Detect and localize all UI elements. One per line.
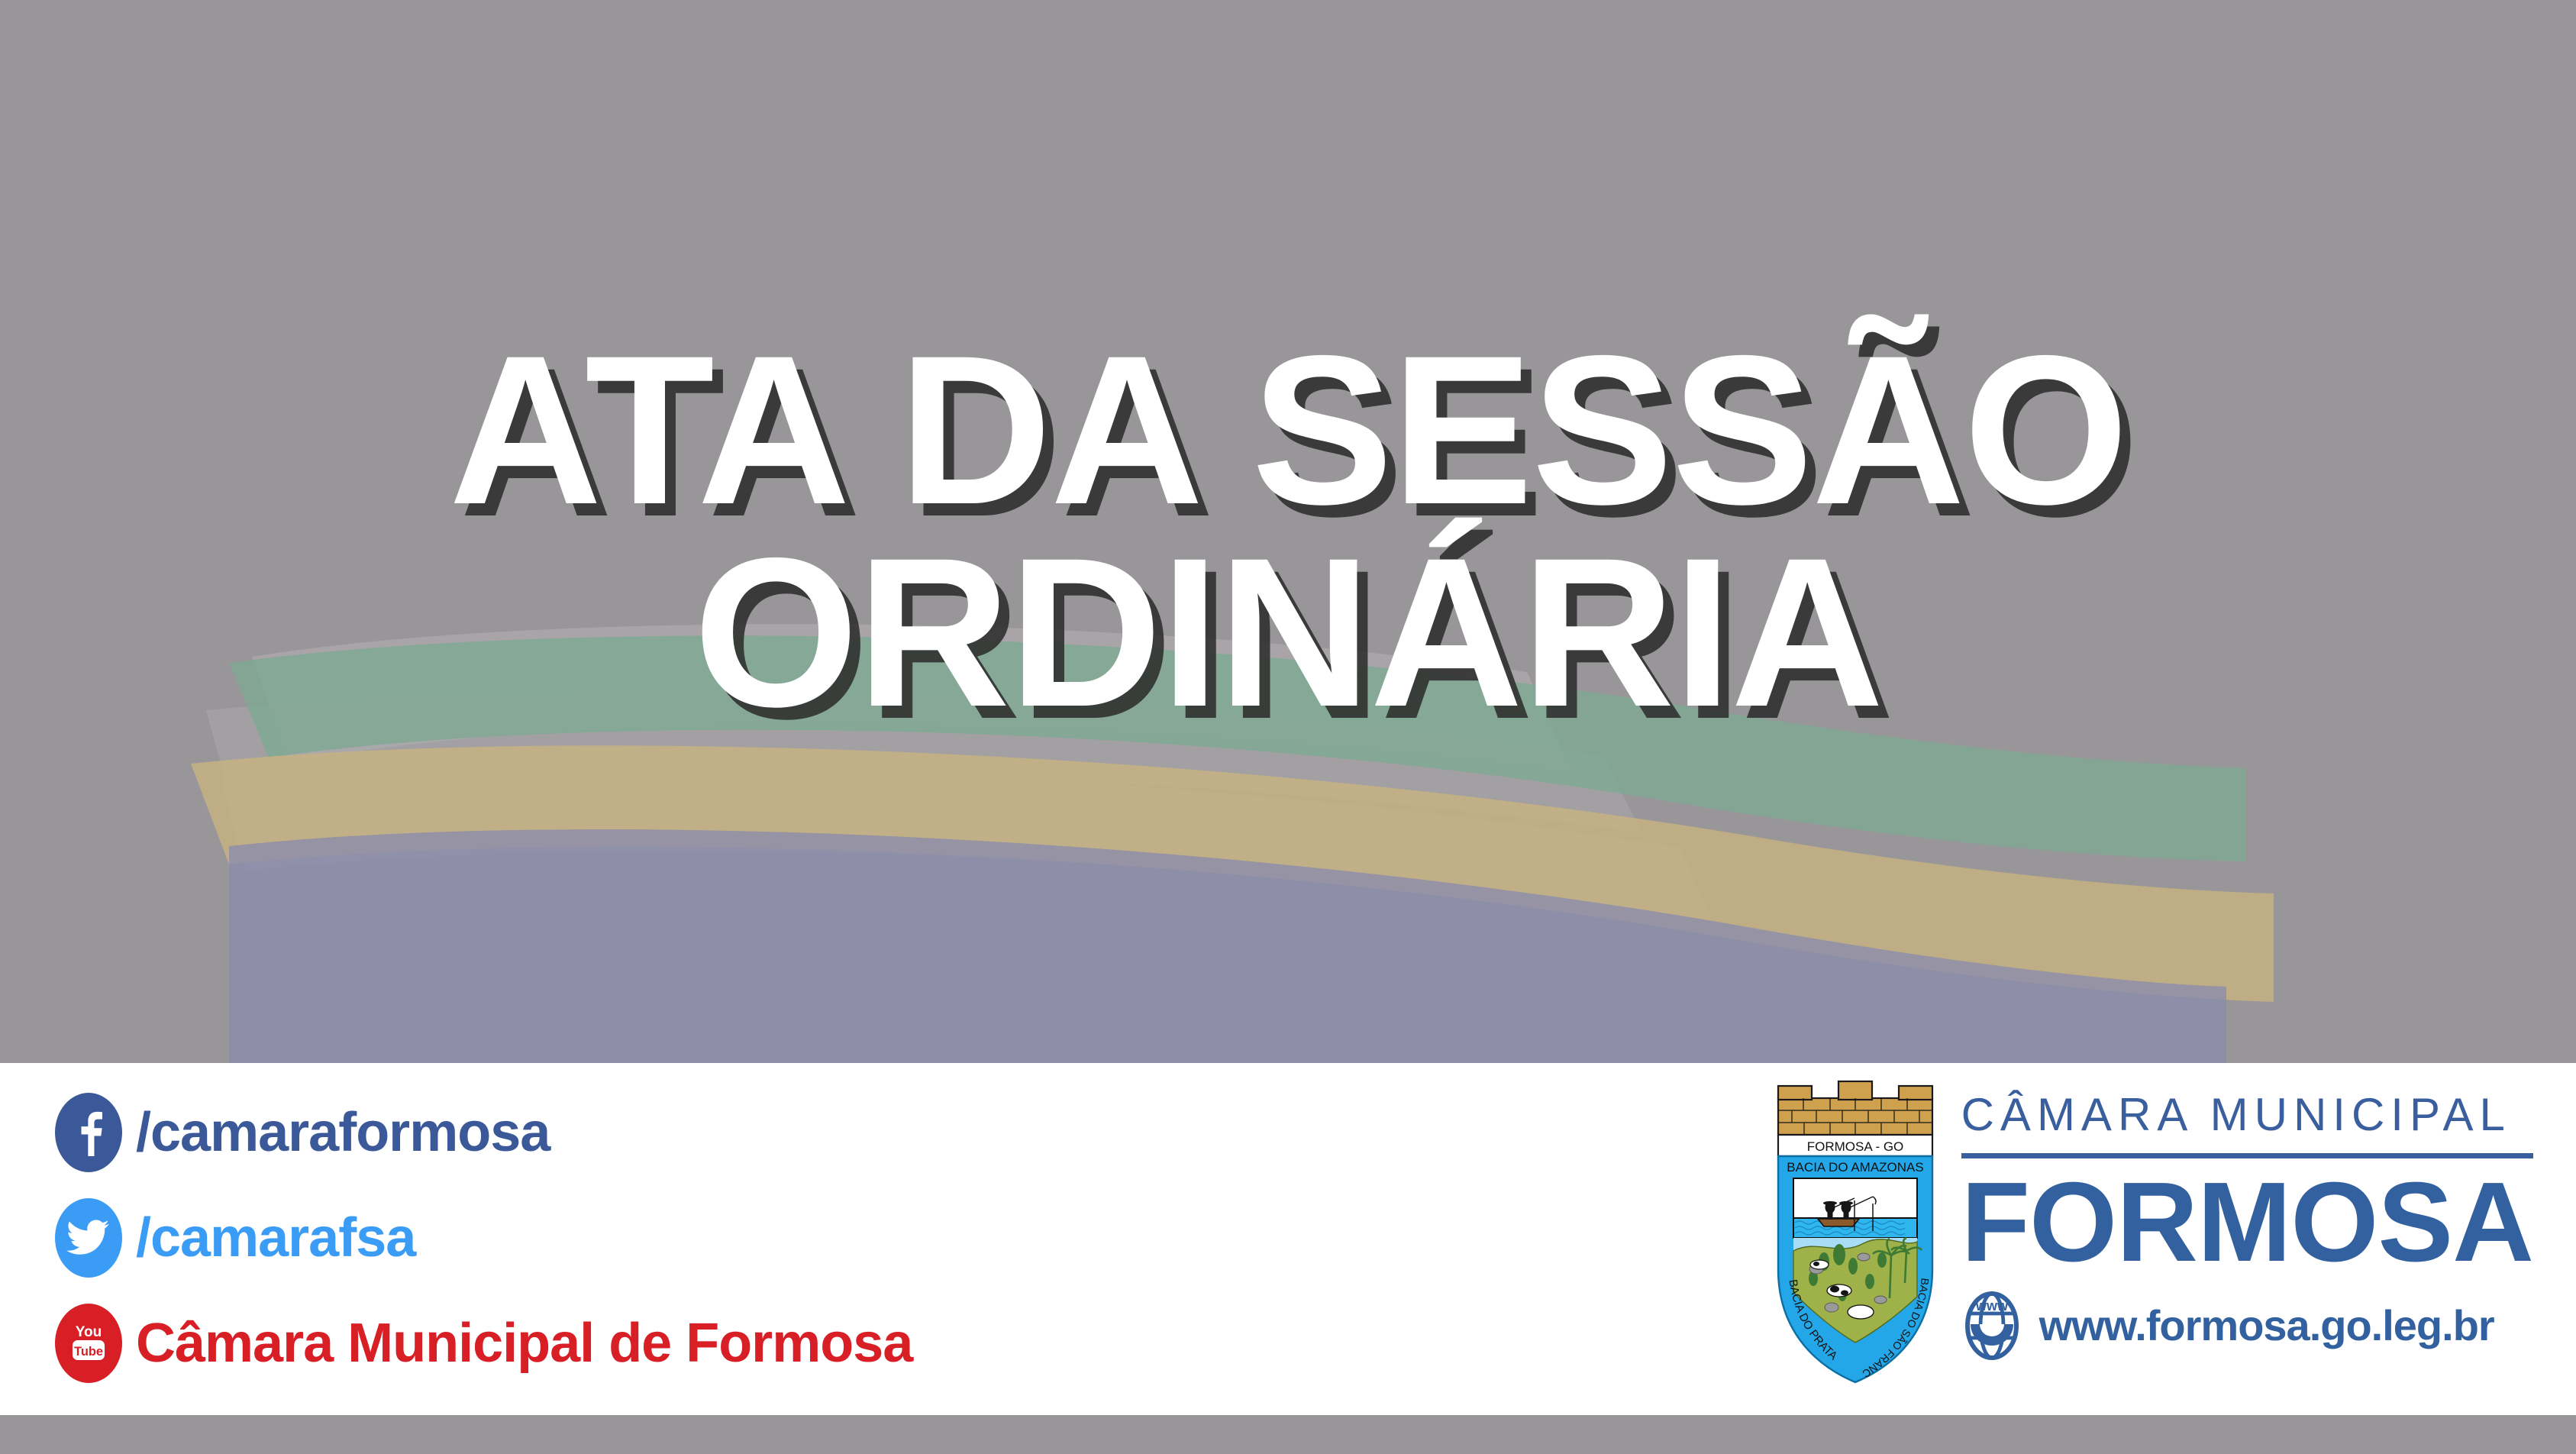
www-globe-icon: www (1961, 1291, 2022, 1361)
formosa-coat-of-arms: FORMOSA - GO BACIA DO AMAZONAS (1769, 1078, 1942, 1387)
facebook-handle-label[interactable]: /camaraformosa (136, 1101, 550, 1164)
brand-divider-rule (1961, 1153, 2533, 1158)
slide-canvas: ATA DA SESSÃO ORDINÁRIA /camaraformosa (0, 0, 2576, 1454)
social-row-facebook[interactable]: /camaraformosa (55, 1080, 1200, 1185)
hero-title-block: ATA DA SESSÃO ORDINÁRIA (0, 0, 2576, 1063)
brand-top-label: CÂMARA MUNICIPAL (1961, 1092, 2533, 1138)
footer-bar: /camaraformosa /camarafsa You Tube (0, 1063, 2576, 1415)
facebook-icon[interactable] (55, 1093, 122, 1172)
website-row[interactable]: www www.formosa.go.leg.br (1961, 1291, 2533, 1361)
social-links-list: /camaraformosa /camarafsa You Tube (55, 1080, 1200, 1396)
page-title-line-1: ATA DA SESSÃO (449, 331, 2127, 529)
svg-text:BACIA DO AMAZONAS: BACIA DO AMAZONAS (1787, 1160, 1924, 1175)
brand-wordmark: CÂMARA MUNICIPAL FORMOSA www www.formosa… (1961, 1078, 2533, 1361)
svg-text:FORMOSA - GO: FORMOSA - GO (1806, 1139, 1903, 1154)
social-row-youtube[interactable]: You Tube Câmara Municipal de Formosa (55, 1291, 1200, 1396)
svg-text:You: You (76, 1324, 102, 1340)
twitter-handle-label[interactable]: /camarafsa (136, 1207, 415, 1269)
bottom-gray-strip (0, 1415, 2576, 1454)
page-title-line-2: ORDINÁRIA (693, 534, 1882, 732)
brand-lockup: FORMOSA - GO BACIA DO AMAZONAS (1769, 1078, 2533, 1399)
youtube-channel-label[interactable]: Câmara Municipal de Formosa (136, 1312, 912, 1375)
youtube-icon[interactable]: You Tube (55, 1304, 122, 1383)
website-url-label[interactable]: www.formosa.go.leg.br (2039, 1301, 2494, 1350)
brand-main-label: FORMOSA (1961, 1163, 2533, 1283)
svg-text:www: www (1975, 1298, 2009, 1313)
svg-text:Tube: Tube (74, 1345, 103, 1359)
social-row-twitter[interactable]: /camarafsa (55, 1185, 1200, 1291)
twitter-icon[interactable] (55, 1198, 122, 1278)
